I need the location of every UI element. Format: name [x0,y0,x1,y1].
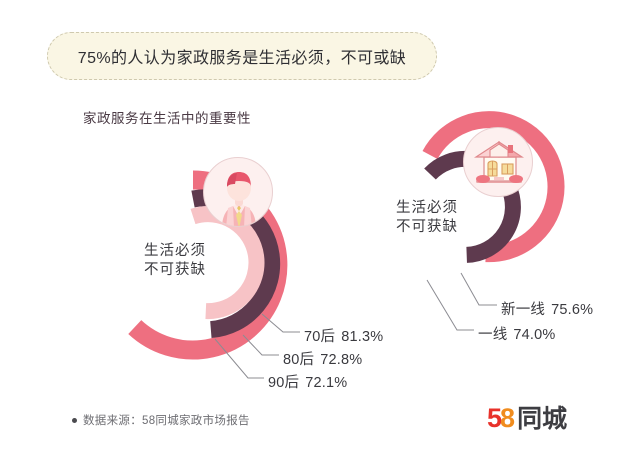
legend-category-yixian: 一线 [478,327,507,343]
house-icon [463,127,533,197]
source-text: 数据来源：58同城家政市场报告 [83,412,250,428]
legend-category-xinyixian: 新一线 [501,302,545,318]
legend-value-80hou: 72.8% [320,352,362,368]
legend-value-70hou: 81.3% [341,329,383,345]
source-note: 数据来源：58同城家政市场报告 [72,412,250,428]
right-leader-lines [427,273,497,330]
legend-item-yixian: 一线74.0% [478,323,556,344]
right-center-line-2: 不可获缺 [396,218,458,237]
legend-value-yixian: 74.0% [513,327,555,343]
legend-category-80hou: 80后 [283,352,314,368]
legend-item-90hou: 90后72.1% [268,371,347,392]
legend-item-80hou: 80后72.8% [283,348,362,369]
legend-category-90hou: 90后 [268,375,299,391]
left-center-line-1: 生活必须 [144,242,206,261]
logo-wordmark: 同城 [517,399,567,435]
brand-logo: 5 8 同城 [487,399,567,435]
leader-line-xinyixian [461,273,497,305]
legend-item-xinyixian: 新一线75.6% [501,298,593,319]
left-center-line-2: 不可获缺 [144,261,206,280]
donut-charts-svg [0,0,640,462]
logo-digit-8: 8 [500,403,514,434]
bullet-dot-icon [72,418,77,423]
legend-value-xinyixian: 75.6% [551,302,593,318]
right-center-line-1: 生活必须 [396,199,458,218]
person-avatar-icon [203,157,273,227]
right-donut-center-label: 生活必须 不可获缺 [396,199,458,237]
logo-digit-5: 5 [487,403,501,434]
leader-line-yixian [427,280,474,330]
infographic-canvas: 75%的人认为家政服务是生活必须，不可或缺 家政服务在生活中的重要性 [0,0,640,462]
legend-item-70hou: 70后81.3% [304,325,383,346]
legend-value-90hou: 72.1% [305,375,347,391]
legend-category-70hou: 70后 [304,329,335,345]
left-donut-center-label: 生活必须 不可获缺 [144,242,206,280]
